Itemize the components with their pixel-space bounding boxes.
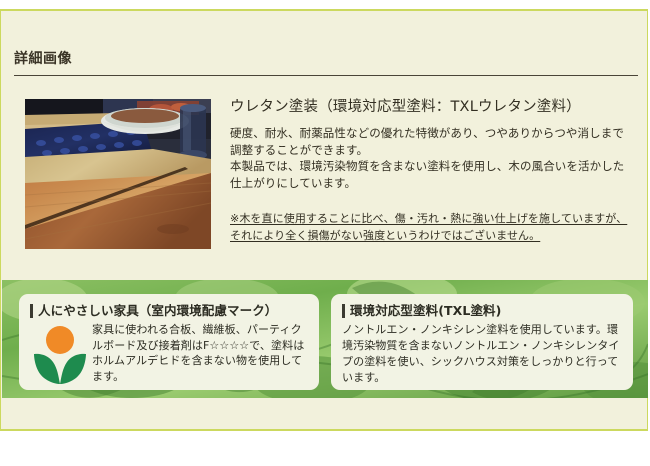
feature-copy: ウレタン塗装（環境対応型塗料：TXLウレタン塗料） 硬度、耐水、耐薬品性などの優… <box>230 97 635 244</box>
eco-card-furniture-header: 人にやさしい家具（室内環境配慮マーク） <box>30 303 309 318</box>
eco-card-paint-text: ノントルエン・ノンキシレン塗料を使用しています。環境汚染物質を含まないノントルエ… <box>342 322 623 386</box>
eco-card-furniture-text: 家具に使われる合板、繊維板、パーティクルボード及び接着剤はF☆☆☆☆で、塗料はホ… <box>92 322 309 384</box>
header-divider <box>14 75 638 76</box>
eco-card-paint-header: 環境対応型塗料(TXL塗料) <box>342 303 623 318</box>
eco-card-furniture: 人にやさしい家具（室内環境配慮マーク） 家具に使われる合板、繊維板、パーティクル… <box>19 294 319 390</box>
feature-note-text: ※木を直に使用することに比べ、傷・汚れ・熱に強い仕上げを施していますが、それによ… <box>230 212 627 242</box>
section-header: 詳細画像 <box>14 50 638 76</box>
eco-card-furniture-body: 家具に使われる合板、繊維板、パーティクルボード及び接着剤はF☆☆☆☆で、塗料はホ… <box>30 322 309 386</box>
feature-note: ※木を直に使用することに比べ、傷・汚れ・熱に強い仕上げを施していますが、それによ… <box>230 210 635 244</box>
page-title: 詳細画像 <box>14 50 638 68</box>
eco-card-paint-title: 環境対応型塗料(TXL塗料) <box>350 303 501 318</box>
heading-bar-icon <box>342 304 345 318</box>
eco-mark-icon <box>32 324 88 386</box>
page-root: 詳細画像 <box>0 0 650 466</box>
eco-card-paint: 環境対応型塗料(TXL塗料) ノントルエン・ノンキシレン塗料を使用しています。環… <box>331 294 633 390</box>
feature-title: ウレタン塗装（環境対応型塗料：TXLウレタン塗料） <box>230 97 635 117</box>
eco-card-paint-body: ノントルエン・ノンキシレン塗料を使用しています。環境汚染物質を含まないノントルエ… <box>342 322 623 386</box>
feature-body: 硬度、耐水、耐薬品性などの優れた特徴があり、つやありからつや消しまで調整すること… <box>230 125 635 191</box>
eco-cards: 人にやさしい家具（室内環境配慮マーク） 家具に使われる合板、繊維板、パーティクル… <box>19 294 633 390</box>
dining-table-photo <box>25 99 211 249</box>
detail-panel: 詳細画像 <box>0 9 648 431</box>
eco-card-furniture-title: 人にやさしい家具（室内環境配慮マーク） <box>38 303 277 318</box>
heading-bar-icon <box>30 304 33 318</box>
